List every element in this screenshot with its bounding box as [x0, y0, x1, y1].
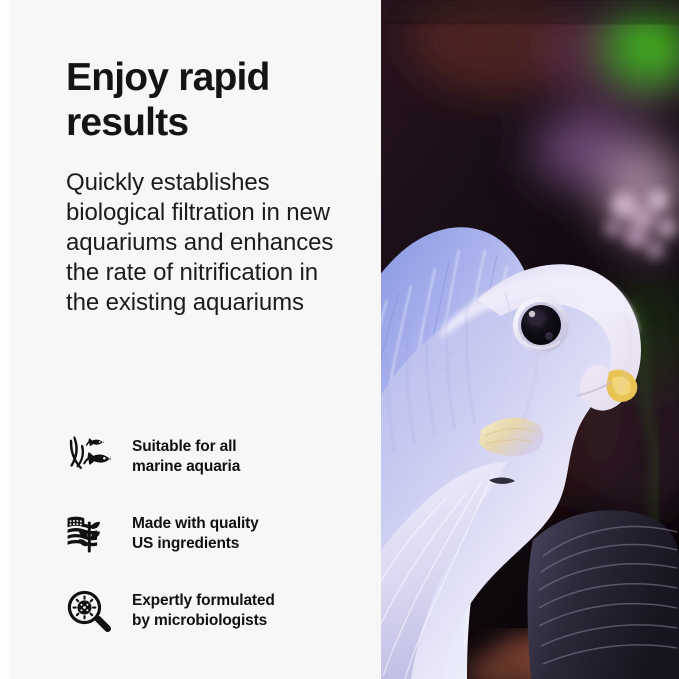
us-flag-plant-icon: [60, 506, 116, 562]
product-photo: [381, 0, 679, 679]
list-item-label: Made with quality US ingredients: [132, 514, 259, 554]
list-item: Expertly formulated by microbiologists: [60, 572, 370, 649]
left-content-panel: Enjoy rapid results Quickly establishes …: [0, 0, 381, 679]
feature-list: Suitable for all marine aquaria: [60, 418, 370, 649]
list-item-label: Expertly formulated by microbiologists: [132, 591, 275, 631]
magnifier-microbe-icon: [60, 583, 116, 639]
product-feature-poster: Enjoy rapid results Quickly establishes …: [0, 0, 679, 679]
list-item: Made with quality US ingredients: [60, 495, 370, 572]
fish-seaweed-icon: [60, 429, 116, 485]
list-item-label: Suitable for all marine aquaria: [132, 437, 240, 477]
description-text: Quickly establishes biological filtratio…: [66, 168, 346, 318]
page-title: Enjoy rapid results: [66, 55, 366, 145]
list-item: Suitable for all marine aquaria: [60, 418, 370, 495]
